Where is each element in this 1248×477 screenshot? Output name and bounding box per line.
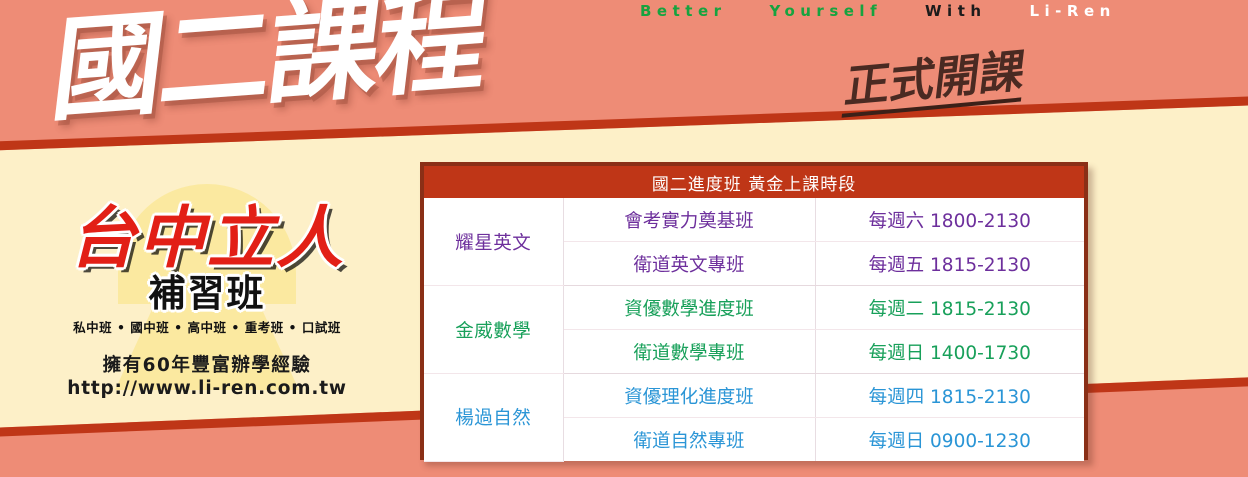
course-time-cell: 每週二 1815-2130 bbox=[815, 286, 1084, 330]
tagline-word-yourself: Yourself bbox=[769, 2, 882, 20]
table-row: 金威數學 資優數學進度班 每週二 1815-2130 bbox=[424, 286, 1084, 330]
brand-logo: 台中立人 補習班 私中班 • 國中班 • 高中班 • 重考班 • 口試班 擁有6… bbox=[22, 190, 392, 425]
brand-name: 台中立人 bbox=[22, 204, 392, 271]
course-time-cell: 每週日 1400-1730 bbox=[815, 330, 1084, 374]
course-name-cell: 衛道自然專班 bbox=[563, 418, 815, 462]
subject-cell-science: 楊過自然 bbox=[424, 374, 563, 462]
course-name-cell: 資優理化進度班 bbox=[563, 374, 815, 418]
table-row: 耀星英文 會考實力奠基班 每週六 1800-2130 bbox=[424, 198, 1084, 242]
subject-cell-math: 金威數學 bbox=[424, 286, 563, 374]
brand-website-url[interactable]: http://www.li-ren.com.tw bbox=[22, 377, 392, 400]
schedule-table-body: 耀星英文 會考實力奠基班 每週六 1800-2130 衛道英文專班 每週五 18… bbox=[424, 198, 1084, 461]
schedule-header-title: 國二進度班 黃金上課時段 bbox=[424, 166, 1084, 198]
schedule-table: 國二進度班 黃金上課時段 耀星英文 會考實力奠基班 每週六 1800-2130 … bbox=[424, 166, 1084, 462]
subject-cell-english: 耀星英文 bbox=[424, 198, 563, 286]
course-time-cell: 每週日 0900-1230 bbox=[815, 418, 1084, 462]
tagline-word-with: With bbox=[925, 2, 987, 20]
schedule-table-container: 國二進度班 黃金上課時段 耀星英文 會考實力奠基班 每週六 1800-2130 … bbox=[420, 162, 1088, 460]
course-time-cell: 每週五 1815-2130 bbox=[815, 242, 1084, 286]
tagline-word-liren: Li-Ren bbox=[1029, 2, 1115, 20]
tagline-word-better: Better bbox=[640, 2, 727, 20]
brand-subtitle: 補習班 bbox=[22, 275, 392, 312]
tagline: Better Yourself With Li-Ren bbox=[640, 2, 1116, 20]
brand-experience: 擁有60年豐富辦學經驗 bbox=[22, 354, 392, 377]
brand-class-types: 私中班 • 國中班 • 高中班 • 重考班 • 口試班 bbox=[22, 317, 392, 336]
course-time-cell: 每週六 1800-2130 bbox=[815, 198, 1084, 242]
table-header-row: 國二進度班 黃金上課時段 bbox=[424, 166, 1084, 198]
course-name-cell: 資優數學進度班 bbox=[563, 286, 815, 330]
course-name-cell: 衛道數學專班 bbox=[563, 330, 815, 374]
course-time-cell: 每週四 1815-2130 bbox=[815, 374, 1084, 418]
table-row: 楊過自然 資優理化進度班 每週四 1815-2130 bbox=[424, 374, 1084, 418]
course-name-cell: 會考實力奠基班 bbox=[563, 198, 815, 242]
promo-banner: Better Yourself With Li-Ren 國二課程 正式開課 台中… bbox=[0, 0, 1248, 477]
course-name-cell: 衛道英文專班 bbox=[563, 242, 815, 286]
